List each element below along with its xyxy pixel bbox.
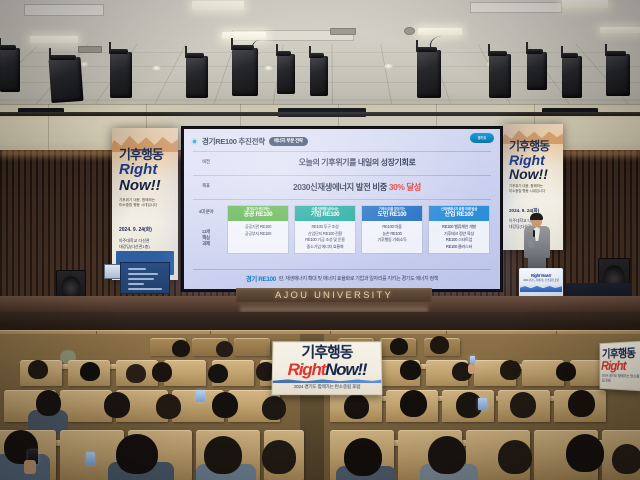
card-title: 공공 RE100	[229, 212, 287, 219]
ceiling-light	[600, 27, 640, 33]
floor-banner-right: 기후행동 Right 2024 경기도 함께가는 탄소중립 포럼	[600, 341, 640, 392]
slide-goal-main: 2030신재생에너지 발전 비중	[293, 182, 389, 192]
projected-slide: 경기RE100 추진전략 에너지 부문 전략 경기도 비전 오늘의 기후위기를 …	[184, 129, 500, 289]
podium-banner-subtitle: 2024 경기도 함께가는 탄소중립 포럼	[523, 278, 558, 282]
attendee-phone	[86, 452, 95, 465]
venue-name-reflection	[240, 303, 428, 312]
slide-card: 수출 장벽을 넘어서는 기업 RE100 RE100 투구 조성 산업단지 RE…	[294, 205, 356, 254]
ceiling-light	[222, 32, 266, 39]
floor-banner-wave	[273, 379, 382, 383]
card-item: RE100 스타트업	[430, 237, 488, 244]
card-title: 기업 RE100	[296, 212, 354, 219]
ceiling-downlight	[384, 64, 393, 69]
attendee-head	[498, 440, 532, 474]
seat	[234, 338, 270, 356]
circle-logo-icon	[191, 138, 198, 145]
card-item: RE100 클러스터	[430, 244, 488, 251]
ceiling-light	[418, 28, 462, 35]
slide-goal-highlight: 30% 달성	[389, 182, 421, 192]
slide-row-label-goal: 목표	[193, 183, 219, 189]
floor-banner-right: Right	[288, 360, 326, 379]
floor-banner-now: Now!!	[325, 360, 366, 379]
slide-card: 기후수호를 앞당기는 도민 RE100 RE100 마을 농촌 RE100 기후…	[361, 205, 423, 254]
attendee-head	[80, 362, 100, 381]
light-cable	[252, 40, 269, 54]
card-item: RE100 밸류체인 개발	[430, 224, 488, 231]
slide-card: 경기도가 선도하는 공공 RE100 공공기관 RE100 공공부지 RE100	[227, 205, 289, 254]
venue-name: AJOU UNIVERSITY	[275, 290, 393, 301]
ceiling-sensor	[404, 27, 415, 35]
card-subtitle: 수출 장벽을 넘어서는	[296, 208, 354, 212]
attendee-head	[566, 434, 604, 472]
projection-screen-frame: 경기RE100 추진전략 에너지 부문 전략 경기도 비전 오늘의 기후위기를 …	[181, 126, 503, 292]
slide-title: 경기RE100 추진전략	[202, 136, 265, 147]
lighting-truss	[0, 112, 640, 116]
ceiling-vent	[330, 28, 356, 35]
floor-banner: 기후행동 RightNow!! 2024 경기도 함께가는 탄소중립 포럼	[272, 341, 383, 395]
card-header: 수출 장벽을 넘어서는 기업 RE100	[295, 206, 355, 221]
ceiling-light	[192, 1, 244, 10]
attendee-head	[28, 360, 48, 379]
attendee-head	[262, 396, 286, 420]
floor-banner-line1: 기후행동	[273, 345, 381, 360]
attendee-head	[156, 394, 181, 419]
microphone-icon	[533, 230, 535, 237]
card-title: 도민 RE100	[363, 212, 421, 219]
attendee-head	[204, 436, 242, 474]
card-item: RE100 기금 조성 및 운용	[296, 237, 354, 244]
slide-row-label-fields: 4대 분야	[193, 209, 219, 215]
ceiling-light	[562, 0, 608, 8]
auditorium-photo: 기후행동 Right Now!! 기후위기 대응, 함께하는 미소중립 행동 시…	[0, 0, 640, 480]
stage-laptop-screen	[120, 262, 170, 294]
attendee-head	[612, 444, 640, 474]
card-header: 경기도가 선도하는 공공 RE100	[228, 206, 288, 221]
card-item: 기후행동 기회소득	[363, 237, 421, 244]
attendee-hand	[24, 460, 36, 474]
ceiling-downlight	[264, 66, 273, 71]
floor-banner-line2: RightNow!!	[273, 361, 381, 378]
gyeonggi-logo: 경기도	[470, 133, 494, 143]
slide-goal-text: 2030신재생에너지 발전 비중 30% 달성	[224, 181, 490, 193]
card-subtitle: 기후수호를 앞당기는	[363, 208, 421, 212]
card-subtitle: 신재생에너지 융합 미래 발굴	[430, 208, 488, 212]
attendee-head	[428, 436, 466, 474]
slide-footer-text: 란, 재생에너지 확대 및 에너지 효율화로 기업과 일자리를 지키는 경기도 …	[279, 275, 438, 282]
card-item: RE100 마을	[363, 224, 421, 231]
floor-banner-line2: Right	[601, 358, 626, 373]
attendee-head	[172, 340, 190, 357]
slide-badge: 에너지 부문 전략	[269, 137, 308, 146]
card-header: 신재생에너지 융합 미래 발굴 산업 RE100	[429, 206, 489, 221]
card-item: RE100 투구 조성	[296, 224, 354, 231]
card-subtitle: 경기도가 선도하는	[229, 208, 287, 212]
attendee-hand	[468, 364, 475, 374]
attendee-head	[216, 341, 233, 357]
attendee-head	[568, 390, 595, 417]
light-cable	[430, 36, 455, 54]
attendee-head	[510, 392, 536, 418]
ceiling-vent	[78, 46, 102, 53]
card-item: 공공부지 RE100	[229, 231, 287, 238]
slide-vision-text: 오늘의 기후위기를 내일의 성장기회로	[224, 157, 490, 168]
attendee-head	[344, 438, 382, 476]
attendee-head	[212, 392, 238, 418]
card-item-list: RE100 투구 조성 산업단지 RE100 전환 RE100 기금 조성 및 …	[295, 221, 355, 253]
attendee-head	[500, 360, 521, 380]
card-title: 산업 RE100	[430, 212, 488, 219]
podium-banner: Right Now!! 2024 경기도 함께가는 탄소중립 포럼	[520, 269, 562, 285]
ceiling-downlight	[80, 62, 89, 67]
card-item-list: RE100 밸류체인 개발 기후테크 정년 육성 RE100 스타트업 RE10…	[429, 221, 489, 253]
attendee-head	[116, 434, 158, 474]
attendee-head	[262, 440, 296, 474]
attendee-tablet	[196, 390, 205, 402]
left-standing-banner: 기후행동 Right Now!! 기후위기 대응, 함께하는 미소중립 행동 시…	[112, 128, 178, 280]
attendee-head	[400, 390, 427, 417]
attendee-head	[104, 392, 130, 418]
card-item-list: RE100 마을 농촌 RE100 기후행동 기회소득	[362, 221, 422, 246]
card-item: 중소기업 에너지 효율화	[296, 244, 354, 251]
slide-footer-logo: 경기 RE100	[246, 274, 276, 283]
gyeonggi-logo-label: 경기도	[470, 133, 494, 143]
presenter	[524, 214, 550, 272]
floor-banner-subtitle: 2024 경기도 함께가는 탄소중립 포럼	[273, 384, 382, 390]
slide-footer: 경기 RE100 란, 재생에너지 확대 및 에너지 효율화로 기업과 일자리를…	[194, 274, 490, 283]
attendee-head	[344, 394, 369, 419]
attendee-head	[126, 364, 146, 383]
ceiling-panel	[470, 2, 562, 13]
attendee-head	[430, 336, 449, 354]
ceiling-downlight	[152, 66, 161, 71]
attendee-head	[390, 338, 408, 355]
attendee-head	[152, 362, 172, 382]
floor-banner-subtitle: 2024 경기도 함께가는 탄소중립 포럼	[602, 373, 640, 384]
card-item-list: 공공기관 RE100 공공부지 RE100	[228, 221, 288, 240]
attendee-head	[556, 362, 576, 381]
ceiling-panel	[24, 4, 104, 16]
podium-wave-graphic	[520, 285, 562, 292]
slide-card-row: 경기도가 선도하는 공공 RE100 공공기관 RE100 공공부지 RE100…	[227, 205, 490, 254]
card-item: 공공기관 RE100	[229, 224, 287, 231]
venue-name-band: AJOU UNIVERSITY	[236, 288, 432, 302]
attendee-head	[400, 360, 421, 380]
attendee-phone	[470, 356, 475, 364]
attendee-head	[208, 364, 228, 383]
card-header: 기후수호를 앞당기는 도민 RE100	[362, 206, 422, 221]
slide-card: 신재생에너지 융합 미래 발굴 산업 RE100 RE100 밸류체인 개발 기…	[428, 205, 490, 254]
slide-row-label-vision: 비전	[193, 159, 219, 165]
slide-row-label-tasks: 13개 핵심 과제	[193, 229, 219, 246]
attendee-head	[36, 390, 61, 416]
slide-header: 경기RE100 추진전략 에너지 부문 전략	[191, 134, 493, 148]
attendee-phone	[478, 398, 487, 410]
ceiling-light	[30, 36, 78, 43]
